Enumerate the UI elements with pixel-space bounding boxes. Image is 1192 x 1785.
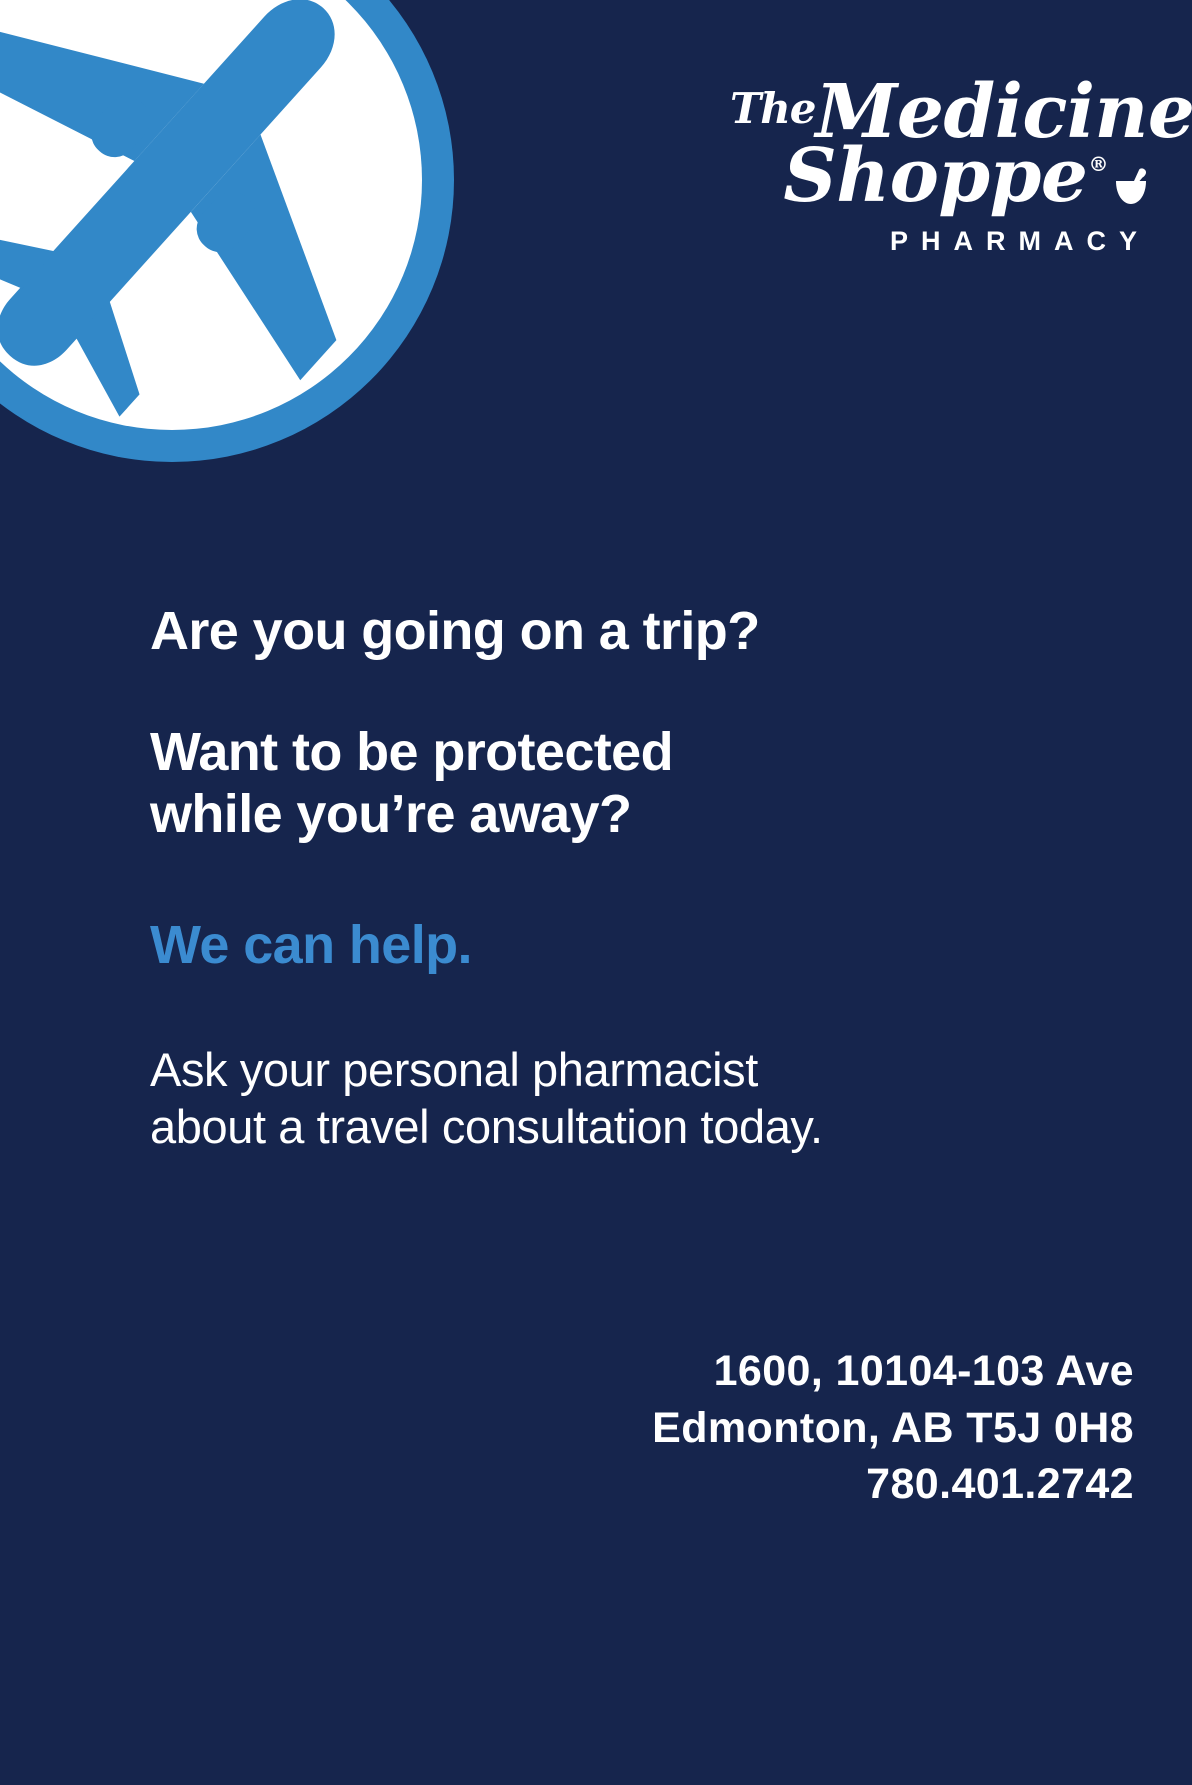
airplane-badge <box>0 0 462 470</box>
brand-logo: TheMedicine Shoppe® PHARMACY <box>730 78 1150 257</box>
logo-pharmacy-label: PHARMACY <box>730 226 1150 257</box>
address-street: 1600, 10104-103 Ave <box>652 1343 1134 1400</box>
body-copy: Ask your personal pharmacist about a tra… <box>150 1041 1050 1156</box>
accent-tagline: We can help. <box>150 914 1050 977</box>
mortar-and-pestle-icon <box>1112 148 1150 216</box>
address-city: Edmonton, AB T5J 0H8 <box>652 1400 1134 1457</box>
headline-protected: Want to be protected while you’re away? <box>150 721 1050 846</box>
logo-script-wordmark: TheMedicine Shoppe® <box>730 78 1150 216</box>
body-copy-line-2: about a travel consultation today. <box>150 1100 823 1153</box>
headline-question: Are you going on a trip? <box>150 600 1050 663</box>
poster-canvas: TheMedicine Shoppe® PHARMACY Are you goi… <box>0 0 1192 1785</box>
logo-the: The <box>730 84 816 133</box>
headline-protected-line-1: Want to be protected <box>150 722 673 782</box>
address-block: 1600, 10104-103 Ave Edmonton, AB T5J 0H8… <box>652 1343 1134 1513</box>
copy-block: Are you going on a trip? Want to be prot… <box>150 600 1050 1155</box>
logo-shoppe: Shoppe <box>783 133 1087 219</box>
phone-number[interactable]: 780.401.2742 <box>652 1456 1134 1513</box>
registered-mark-icon: ® <box>1089 152 1109 176</box>
body-copy-line-1: Ask your personal pharmacist <box>150 1043 758 1096</box>
headline-protected-line-2: while you’re away? <box>150 784 631 844</box>
